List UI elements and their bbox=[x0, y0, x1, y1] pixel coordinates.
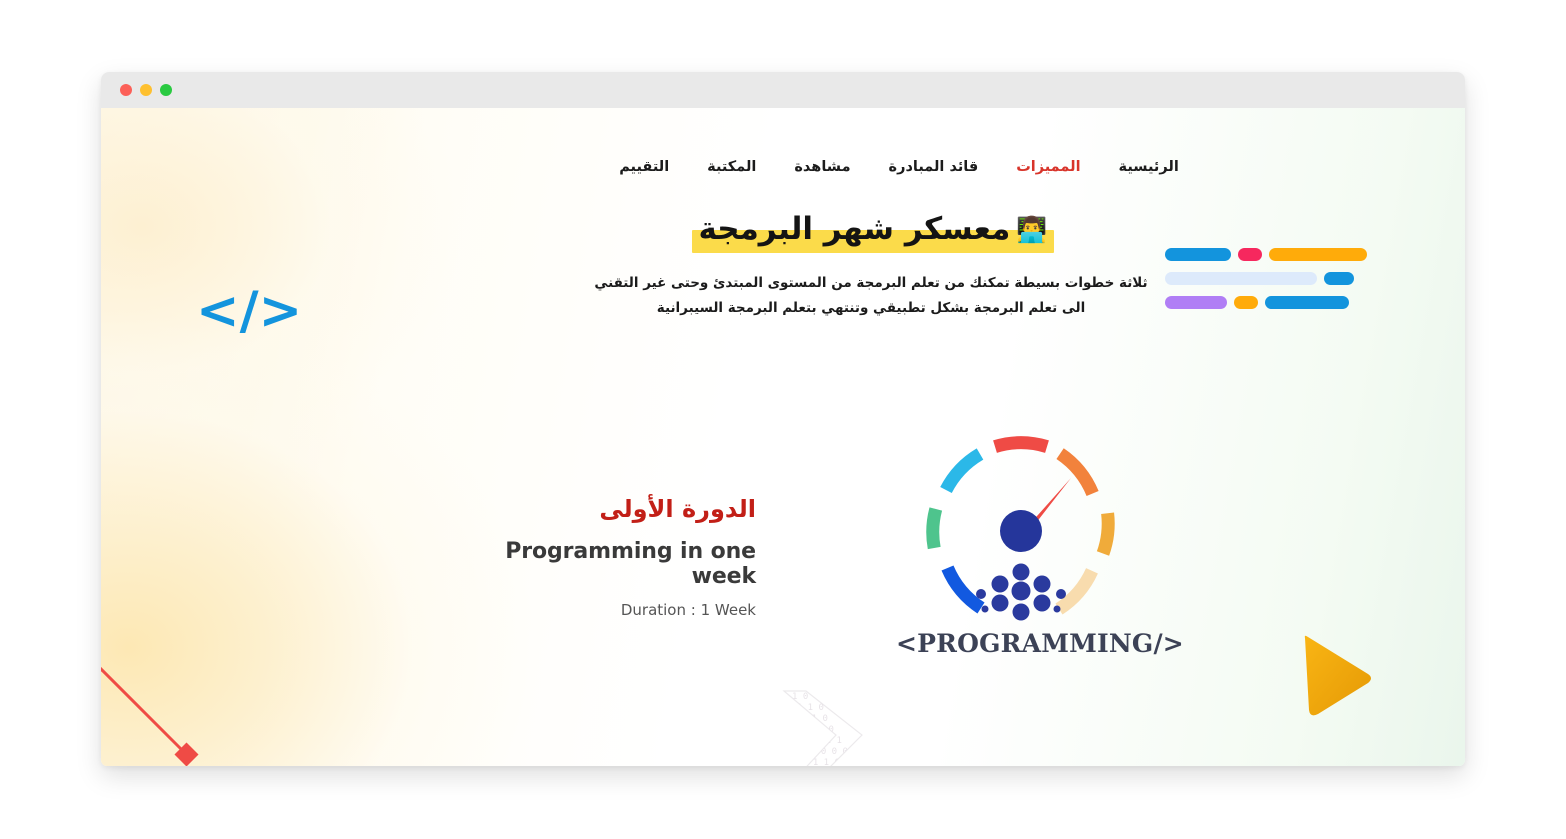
code-bar-row bbox=[1165, 296, 1380, 309]
page-title-text: معسكر شهر البرمجة bbox=[698, 211, 1010, 249]
minimize-window-button[interactable] bbox=[140, 84, 152, 96]
nav-item-library[interactable]: المكتبة bbox=[707, 160, 756, 175]
svg-text:1 1 1 1: 1 1 1 1 bbox=[804, 736, 842, 746]
programming-label: <PROGRAMMING/> bbox=[896, 629, 1146, 658]
page-canvas: الرئيسية المميزات قائد المبادرة مشاهدة ا… bbox=[101, 108, 1465, 766]
red-pointer-decoration bbox=[101, 664, 206, 766]
code-bar bbox=[1238, 248, 1262, 261]
gauge-hub bbox=[1000, 510, 1042, 552]
code-bars-decoration bbox=[1165, 248, 1380, 320]
play-wedge-decoration bbox=[1300, 634, 1374, 718]
code-brackets-icon: </> bbox=[196, 281, 302, 341]
browser-window: الرئيسية المميزات قائد المبادرة مشاهدة ا… bbox=[101, 72, 1465, 766]
code-bar bbox=[1269, 248, 1367, 261]
code-bar bbox=[1165, 272, 1317, 285]
svg-text:1 1 1 0: 1 1 1 0 bbox=[786, 703, 824, 713]
code-bar-row bbox=[1165, 272, 1380, 285]
gauge-dot-cluster bbox=[976, 564, 1066, 621]
code-bar bbox=[1324, 272, 1354, 285]
course-kicker: الدورة الأولى bbox=[466, 493, 756, 525]
speedometer-icon bbox=[921, 433, 1121, 623]
nav-item-home[interactable]: الرئيسية bbox=[1119, 160, 1179, 175]
code-bar bbox=[1265, 296, 1349, 309]
zoom-window-button[interactable] bbox=[160, 84, 172, 96]
browser-titlebar bbox=[101, 72, 1465, 108]
main-navigation: الرئيسية المميزات قائد المبادرة مشاهدة ا… bbox=[101, 160, 1465, 175]
course-title: Programming in one week bbox=[466, 539, 756, 589]
gauge-graphic-container: <PROGRAMMING/> bbox=[896, 433, 1146, 658]
nav-item-evaluation[interactable]: التقييم bbox=[619, 160, 669, 175]
svg-text:1 1 0 0: 1 1 0 0 bbox=[796, 725, 834, 735]
window-controls bbox=[120, 84, 172, 96]
hero-subtitle: ثلاثة خطوات بسيطة تمكنك من تعلم البرمجة … bbox=[589, 271, 1154, 321]
code-bar bbox=[1165, 296, 1227, 309]
svg-text:0 0 1 0: 0 0 1 0 bbox=[790, 714, 828, 724]
code-bar bbox=[1234, 296, 1258, 309]
course-duration: Duration : 1 Week bbox=[466, 601, 756, 619]
nav-item-features[interactable]: المميزات bbox=[1016, 160, 1080, 175]
technologist-icon: 👨‍💻 bbox=[1016, 217, 1047, 242]
close-window-button[interactable] bbox=[120, 84, 132, 96]
code-bar-row bbox=[1165, 248, 1380, 261]
binary-chevron-watermark: 1 0 1 1 1 0 0 0 1 0 1 1 0 0 1 1 1 1 0 0 … bbox=[776, 683, 876, 766]
code-bar bbox=[1165, 248, 1231, 261]
page-title: 👨‍💻 معسكر شهر البرمجة bbox=[692, 209, 1053, 255]
course-info-block: الدورة الأولى Programming in one week Du… bbox=[466, 493, 756, 619]
nav-item-leader[interactable]: قائد المبادرة bbox=[889, 160, 979, 175]
nav-item-watch[interactable]: مشاهدة bbox=[794, 160, 850, 175]
